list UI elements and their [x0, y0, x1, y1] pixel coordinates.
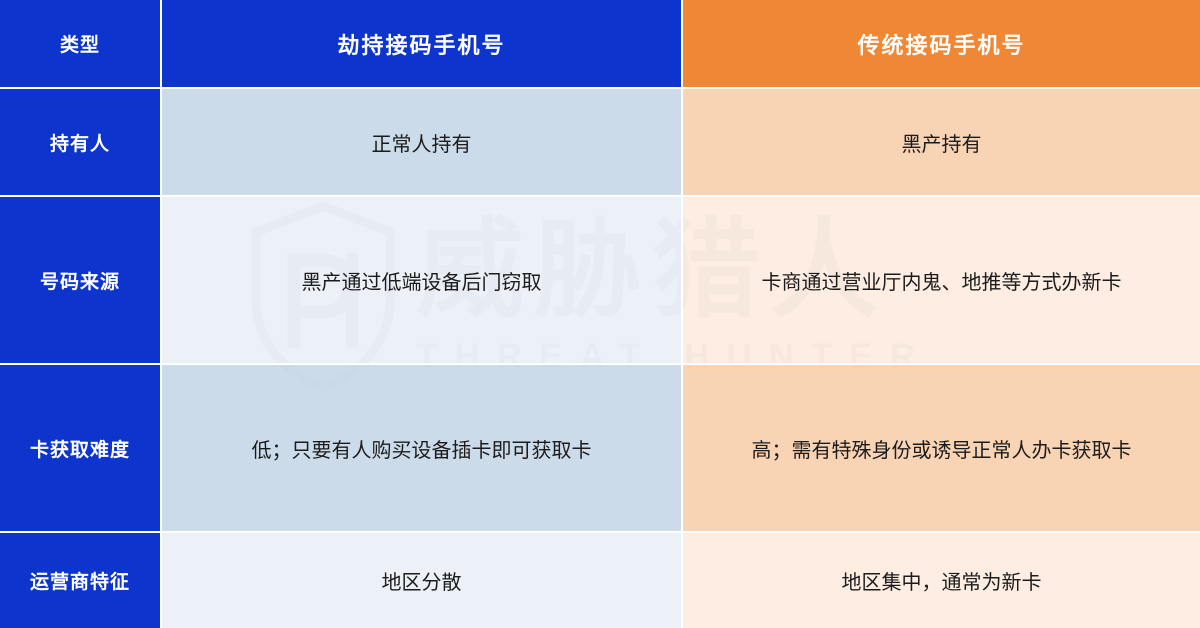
row-label-card-difficulty: 卡获取难度 [0, 365, 162, 533]
row-value-card-difficulty-hijacked: 低；只要有人购买设备插卡即可获取卡 [162, 365, 683, 533]
row-label-number-source: 号码来源 [0, 197, 162, 365]
row-value-card-difficulty-traditional: 高；需有特殊身份或诱导正常人办卡获取卡 [683, 365, 1200, 533]
comparison-table: 威胁猎人 THREAT HUNTER 类型 劫持接码手机号 传统接码手机号 持有… [0, 0, 1200, 628]
row-value-holder-traditional: 黑产持有 [683, 89, 1200, 197]
row-label-holder: 持有人 [0, 89, 162, 197]
row-value-carrier-traits-traditional: 地区集中，通常为新卡 [683, 533, 1200, 628]
table-header-traditional: 传统接码手机号 [683, 0, 1200, 89]
table-grid: 类型 劫持接码手机号 传统接码手机号 持有人 正常人持有 黑产持有 号码来源 黑… [0, 0, 1200, 628]
table-header-hijacked: 劫持接码手机号 [162, 0, 683, 89]
row-value-number-source-hijacked: 黑产通过低端设备后门窃取 [162, 197, 683, 365]
row-label-carrier-traits: 运营商特征 [0, 533, 162, 628]
table-header-type: 类型 [0, 0, 162, 89]
row-value-number-source-traditional: 卡商通过营业厅内鬼、地推等方式办新卡 [683, 197, 1200, 365]
row-value-holder-hijacked: 正常人持有 [162, 89, 683, 197]
row-value-carrier-traits-hijacked: 地区分散 [162, 533, 683, 628]
